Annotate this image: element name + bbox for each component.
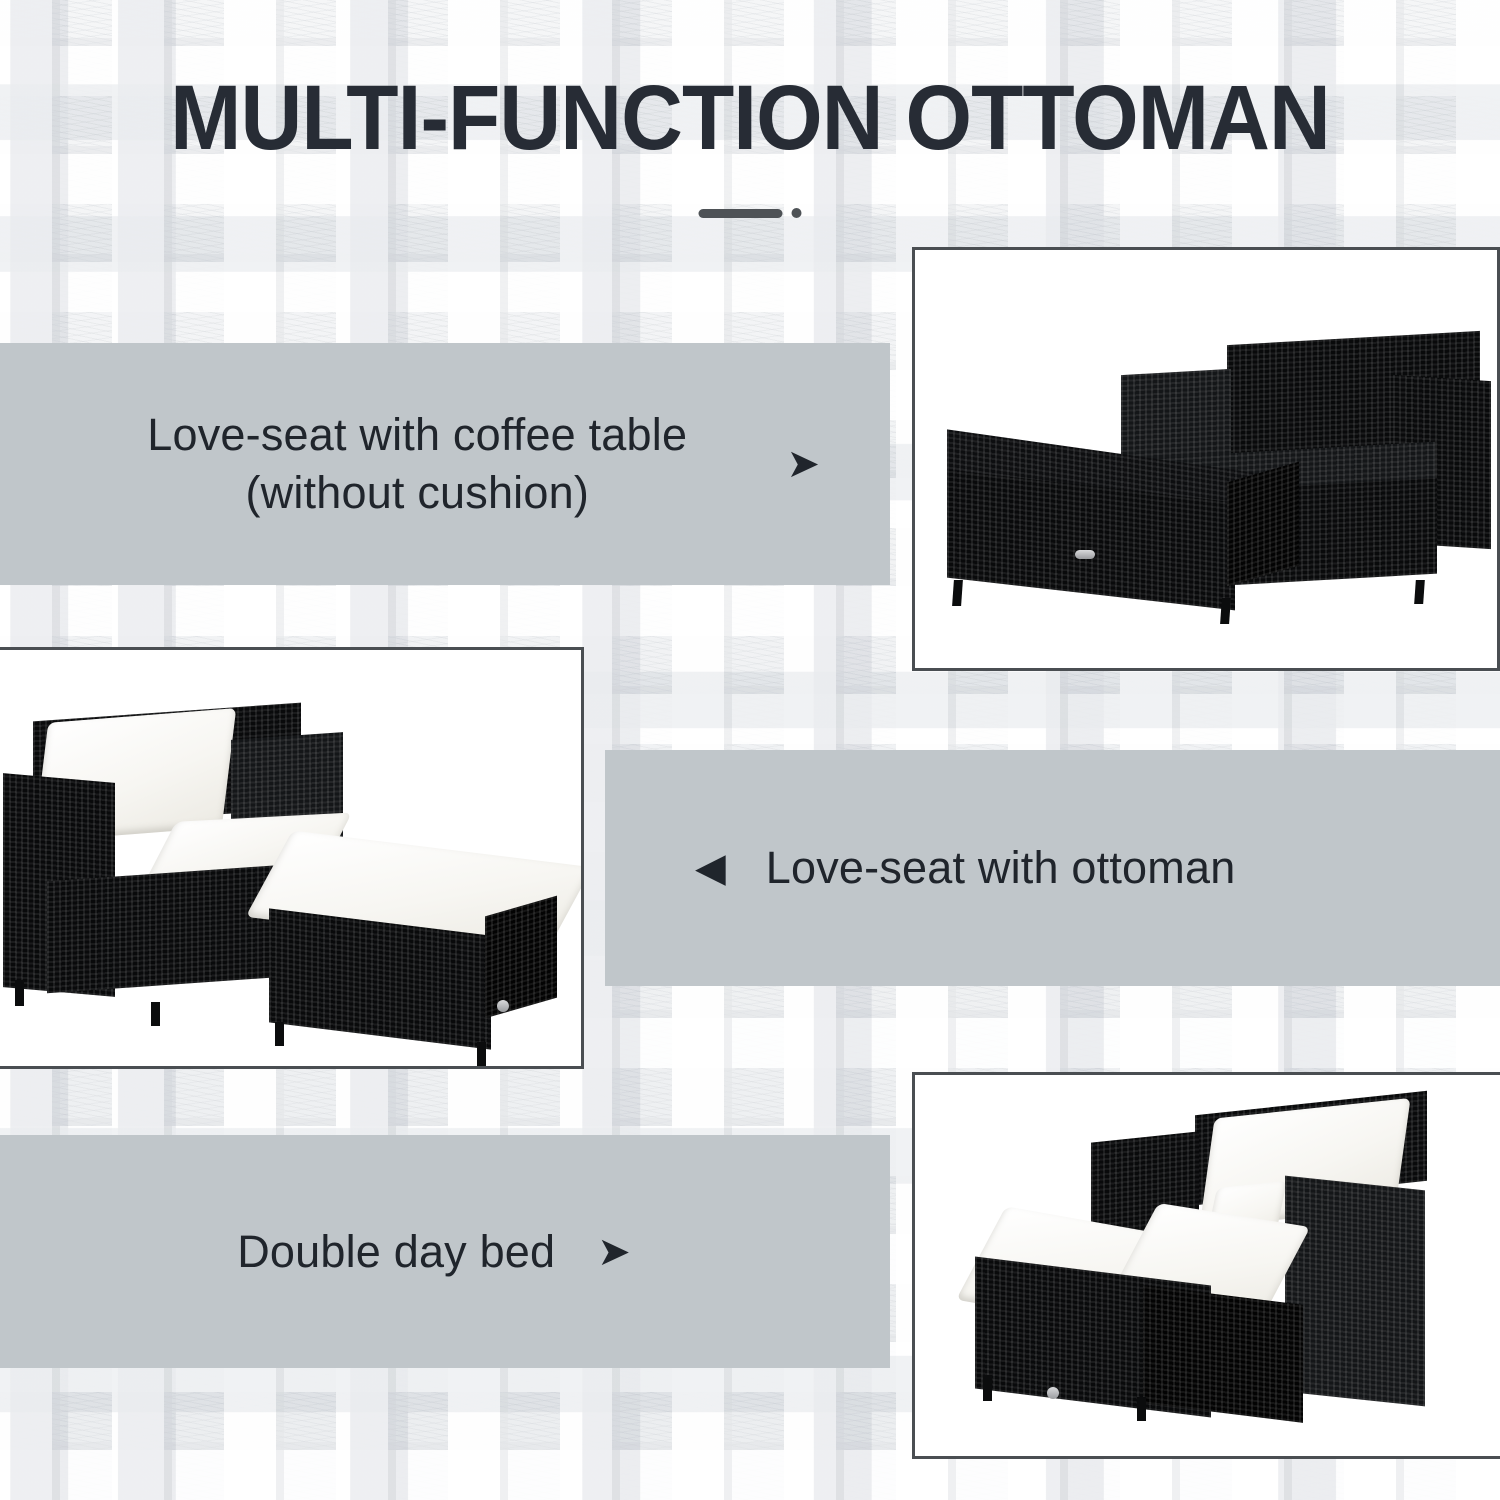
brand-badge-icon bbox=[1075, 550, 1095, 559]
loveseat-leg-left bbox=[15, 980, 24, 1006]
title-divider bbox=[699, 208, 802, 218]
photo-stage bbox=[915, 1075, 1500, 1456]
brand-badge-icon bbox=[497, 1000, 509, 1012]
product-photo-loveseat-coffee-table bbox=[912, 247, 1500, 671]
daybed-front-panel-secondary bbox=[1143, 1285, 1303, 1423]
arrow-right-icon: ➤ bbox=[786, 444, 820, 484]
loveseat-leg-right bbox=[1414, 580, 1425, 604]
caption-band-loveseat-ottoman: ◀ Love-seat with ottoman bbox=[605, 750, 1500, 986]
daybed-leg-left bbox=[983, 1375, 992, 1401]
arrow-left-icon: ◀ bbox=[695, 848, 726, 888]
page-title: MULTI-FUNCTION OTTOMAN bbox=[53, 72, 1448, 164]
daybed-right-armrest bbox=[1285, 1176, 1425, 1407]
caption-band-loveseat-coffee-table: Love-seat with coffee table (without cus… bbox=[0, 343, 890, 585]
divider-dot bbox=[792, 208, 802, 218]
daybed-leg-right bbox=[1137, 1397, 1146, 1421]
product-photo-loveseat-ottoman bbox=[0, 647, 584, 1069]
ottoman-leg-right bbox=[477, 1042, 486, 1066]
photo-stage bbox=[0, 650, 581, 1066]
photo-stage bbox=[915, 250, 1497, 668]
divider-bar bbox=[699, 209, 783, 218]
caption-text-double-day-bed: Double day bed bbox=[237, 1223, 555, 1281]
brand-badge-icon bbox=[1047, 1387, 1059, 1399]
coffee-table-side-panel bbox=[1227, 462, 1299, 587]
caption-text-loveseat-coffee-table: Love-seat with coffee table (without cus… bbox=[48, 406, 786, 521]
ottoman-side-panel bbox=[485, 896, 557, 1019]
coffee-table-leg-right bbox=[1220, 598, 1231, 624]
coffee-table-leg-left bbox=[952, 580, 963, 606]
product-photo-double-day-bed bbox=[912, 1072, 1500, 1459]
arrow-right-icon: ➤ bbox=[597, 1232, 631, 1272]
ottoman-leg-left bbox=[275, 1022, 284, 1046]
caption-text-loveseat-ottoman: Love-seat with ottoman bbox=[766, 839, 1236, 897]
caption-band-double-day-bed: Double day bed ➤ bbox=[0, 1135, 890, 1368]
loveseat-leg-right bbox=[151, 1002, 160, 1026]
infographic-page: MULTI-FUNCTION OTTOMAN Love-seat with co… bbox=[0, 0, 1500, 1500]
